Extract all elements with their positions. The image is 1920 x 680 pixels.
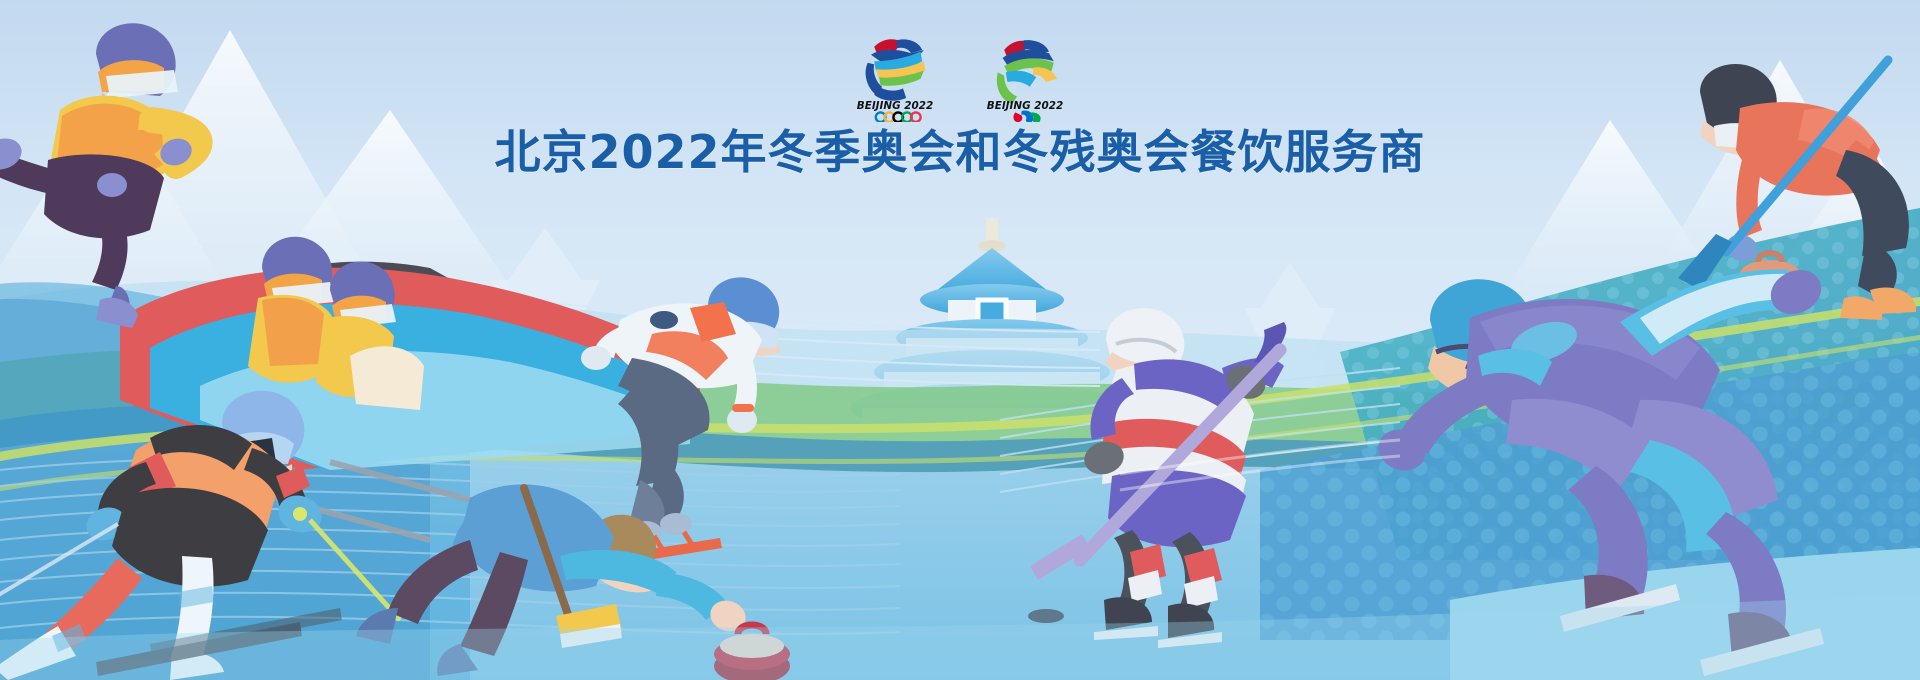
emblem-row: BEIJING 2022 bbox=[0, 26, 1920, 122]
olympic-wordmark: BEIJING 2022 bbox=[857, 100, 933, 112]
beijing-2022-banner: BEIJING 2022 bbox=[0, 0, 1920, 680]
page-title: 北京2022年冬季奥会和冬残奥会餐饮服务商 bbox=[0, 124, 1920, 180]
hockey-puck bbox=[1028, 609, 1064, 623]
olympic-emblem-symbol bbox=[866, 39, 926, 100]
beijing-2022-paralympic-emblem[interactable]: BEIJING 2022 bbox=[977, 26, 1073, 122]
paralympic-emblem-symbol bbox=[997, 40, 1057, 104]
beijing-2022-olympic-emblem[interactable]: BEIJING 2022 bbox=[847, 26, 943, 122]
agitos-icon bbox=[1013, 110, 1040, 122]
olympic-rings-icon bbox=[876, 112, 921, 122]
paralympic-wordmark: BEIJING 2022 bbox=[987, 100, 1063, 112]
